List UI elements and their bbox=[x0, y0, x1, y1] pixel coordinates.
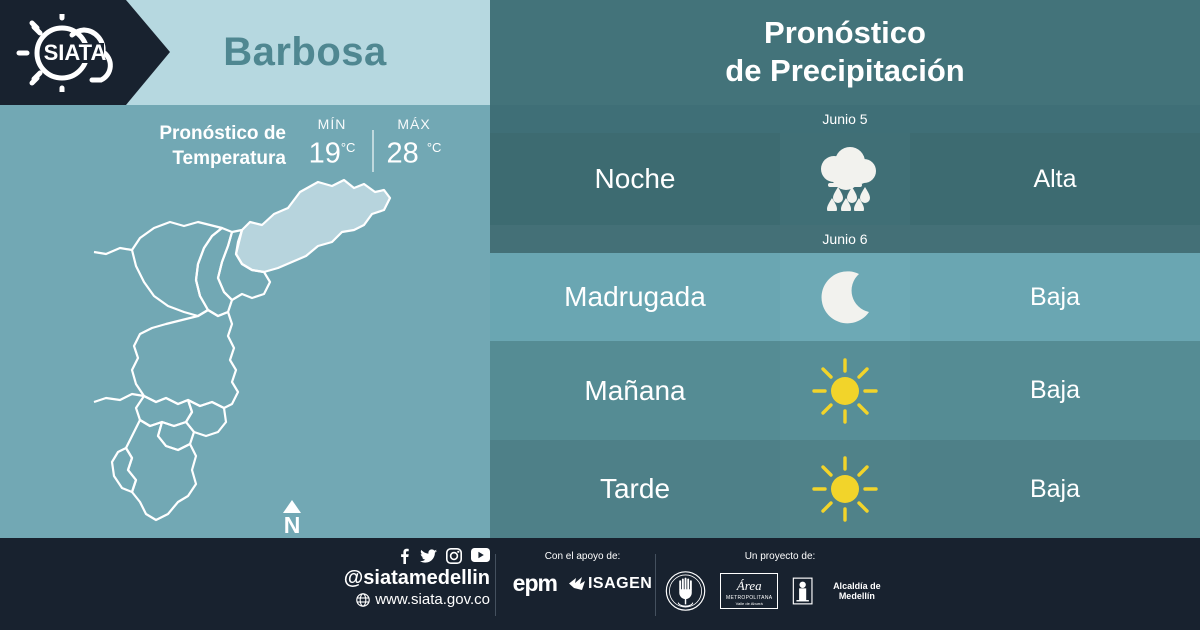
precipitation-forecast-panel: Pronóstico de Precipitación Junio 5 Noch… bbox=[490, 0, 1200, 538]
forecast-probability: Baja bbox=[910, 253, 1200, 341]
brand-logo-text: SIATA bbox=[44, 40, 107, 65]
forecast-row-noche: Noche Alta bbox=[490, 133, 1200, 225]
map-region-border-left bbox=[94, 248, 132, 254]
map-region-border-left2 bbox=[94, 394, 144, 402]
footer-divider-2 bbox=[655, 554, 656, 616]
temperature-min: MÍN 19°C bbox=[292, 116, 372, 172]
social-block: @siatamedellin www.siata.gov.co bbox=[330, 548, 490, 610]
map-region-laestrella bbox=[112, 448, 136, 492]
north-arrow-label: N bbox=[275, 514, 309, 537]
project-caption: Un proyecto de: bbox=[665, 551, 895, 562]
area-metropolitana-logo: Área METROPOLITANA Valle de Aburrá bbox=[720, 573, 778, 609]
map-region-medellin bbox=[132, 310, 238, 408]
temperature-max: MÁX 28 °C bbox=[374, 116, 454, 172]
social-handle[interactable]: @siatamedellin bbox=[330, 566, 490, 590]
project-logos: Área METROPOLITANA Valle de Aburrá Alcal… bbox=[665, 568, 895, 614]
temperature-max-value: 28 °C bbox=[374, 132, 454, 170]
alcaldia-label: Alcaldía de Medellín bbox=[819, 581, 895, 601]
forecast-period-label: Madrugada bbox=[490, 253, 780, 341]
facebook-icon[interactable] bbox=[397, 548, 411, 564]
twitter-icon[interactable] bbox=[420, 548, 437, 564]
website-url: www.siata.gov.co bbox=[375, 590, 490, 610]
north-arrow: N bbox=[275, 500, 309, 537]
forecast-probability: Baja bbox=[910, 440, 1200, 538]
temperature-min-unit: °C bbox=[341, 140, 356, 155]
moon-icon bbox=[780, 253, 910, 341]
map-region-bello bbox=[132, 222, 222, 316]
date-header-2: Junio 6 bbox=[490, 225, 1200, 253]
udea-seal-icon bbox=[665, 568, 706, 614]
forecast-probability: Alta bbox=[910, 133, 1200, 225]
forecast-period-label: Tarde bbox=[490, 440, 780, 538]
temperature-min-value: 19°C bbox=[292, 132, 372, 170]
temperature-block: Pronóstico de Temperatura MÍN 19°C MÁX 2… bbox=[0, 105, 490, 185]
map-region-barbosa bbox=[236, 180, 390, 272]
social-icons bbox=[330, 548, 490, 564]
forecast-title-line2: de Precipitación bbox=[725, 53, 964, 88]
forecast-period-label: Mañana bbox=[490, 341, 780, 440]
map-region-caldas bbox=[126, 420, 196, 520]
project-block: Un proyecto de: Área METROPOLITANA Valle… bbox=[665, 551, 895, 614]
sun-icon bbox=[780, 341, 910, 440]
alcaldia-medellin-logo: Alcaldía de Medellín bbox=[792, 575, 895, 607]
forecast-title: Pronóstico de Precipitación bbox=[490, 14, 1200, 90]
globe-icon bbox=[356, 593, 370, 607]
forecast-row-tarde: Tarde Baja bbox=[490, 440, 1200, 538]
support-block: Con el apoyo de: epm ISAGEN bbox=[505, 551, 660, 597]
date-header-1: Junio 5 bbox=[490, 105, 1200, 133]
sun-icon bbox=[780, 440, 910, 538]
footer-divider-1 bbox=[495, 554, 496, 616]
left-panel: Barbosa SIATA Pronóstico de Tempe bbox=[0, 0, 490, 538]
support-caption: Con el apoyo de: bbox=[505, 551, 660, 562]
forecast-row-madrugada: Madrugada Baja bbox=[490, 253, 1200, 341]
map-svg bbox=[92, 170, 422, 530]
website-row[interactable]: www.siata.gov.co bbox=[330, 590, 490, 610]
instagram-icon[interactable] bbox=[446, 548, 462, 564]
temperature-title: Pronóstico de Temperatura bbox=[56, 121, 286, 171]
temperature-max-label: MÁX bbox=[374, 116, 454, 132]
temperature-values: MÍN 19°C MÁX 28 °C bbox=[292, 116, 472, 172]
sun-cloud-icon: SIATA bbox=[10, 14, 160, 92]
support-logos: epm ISAGEN bbox=[505, 570, 660, 597]
temperature-title-line1: Pronóstico de bbox=[159, 123, 286, 144]
isagen-logo: ISAGEN bbox=[569, 575, 652, 593]
map-region-copacabana bbox=[196, 228, 232, 316]
rain-cloud-icon bbox=[780, 133, 910, 225]
forecast-row-manana: Mañana Baja bbox=[490, 341, 1200, 440]
youtube-icon[interactable] bbox=[471, 548, 490, 562]
forecast-probability: Baja bbox=[910, 341, 1200, 440]
valley-map: N bbox=[0, 170, 490, 538]
temperature-title-line2: Temperatura bbox=[172, 148, 286, 169]
temperature-min-label: MÍN bbox=[292, 116, 372, 132]
isagen-mark-icon bbox=[569, 577, 585, 590]
footer: @siatamedellin www.siata.gov.co Con el a… bbox=[0, 538, 1200, 630]
forecast-period-label: Noche bbox=[490, 133, 780, 225]
weather-forecast-infographic: Barbosa SIATA Pronóstico de Tempe bbox=[0, 0, 1200, 630]
forecast-title-line1: Pronóstico bbox=[764, 15, 926, 50]
temperature-max-unit: °C bbox=[427, 140, 442, 155]
alcaldia-crest-icon bbox=[792, 575, 813, 607]
epm-logo: epm bbox=[513, 570, 557, 597]
